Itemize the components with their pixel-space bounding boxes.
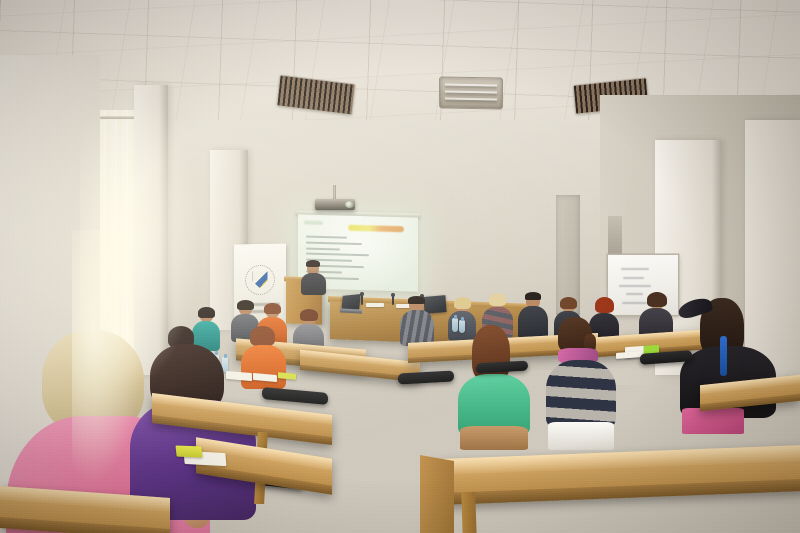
chair-back: [262, 387, 328, 405]
hair: [647, 292, 667, 307]
whiteboard: [608, 255, 678, 315]
handout-paper: [226, 371, 252, 381]
shield-icon: [253, 271, 268, 288]
pink-jacket: [682, 408, 744, 434]
presenter-torso: [301, 273, 326, 295]
fur-trim: [460, 426, 528, 450]
organisation-emblem-icon: [245, 265, 275, 296]
table-microphone: [361, 294, 363, 305]
ceiling-air-vent: [440, 77, 502, 108]
hair: [560, 297, 577, 309]
structural-column: [134, 85, 168, 375]
hair: [300, 309, 318, 321]
hair: [408, 296, 425, 304]
audience-desk-foreground: [436, 445, 800, 505]
hair: [595, 297, 614, 313]
hair: [250, 326, 275, 346]
hair: [198, 307, 215, 318]
projector-lens-icon: [345, 201, 354, 208]
structural-column: [745, 120, 800, 380]
wall-recess: [608, 216, 622, 260]
torso-striped: [546, 360, 616, 428]
torso: [241, 345, 286, 389]
water-bottle: [459, 320, 465, 333]
hair: [237, 300, 254, 310]
hair: [489, 293, 506, 306]
white-jacket: [548, 422, 614, 450]
presenter-hair: [306, 260, 320, 267]
lanyard: [720, 336, 727, 376]
water-bottle: [452, 318, 458, 332]
hair: [454, 297, 471, 309]
table-microphone: [392, 295, 394, 305]
torso: [400, 310, 434, 346]
desk-leg: [461, 492, 477, 533]
notebook: [175, 445, 202, 457]
conference-room-photo: [0, 0, 800, 533]
handout-paper: [366, 303, 384, 307]
chair-back: [476, 361, 528, 374]
desk-side-panel: [420, 455, 454, 533]
hair: [264, 303, 281, 314]
chair-back: [398, 371, 454, 385]
hair: [525, 292, 541, 300]
